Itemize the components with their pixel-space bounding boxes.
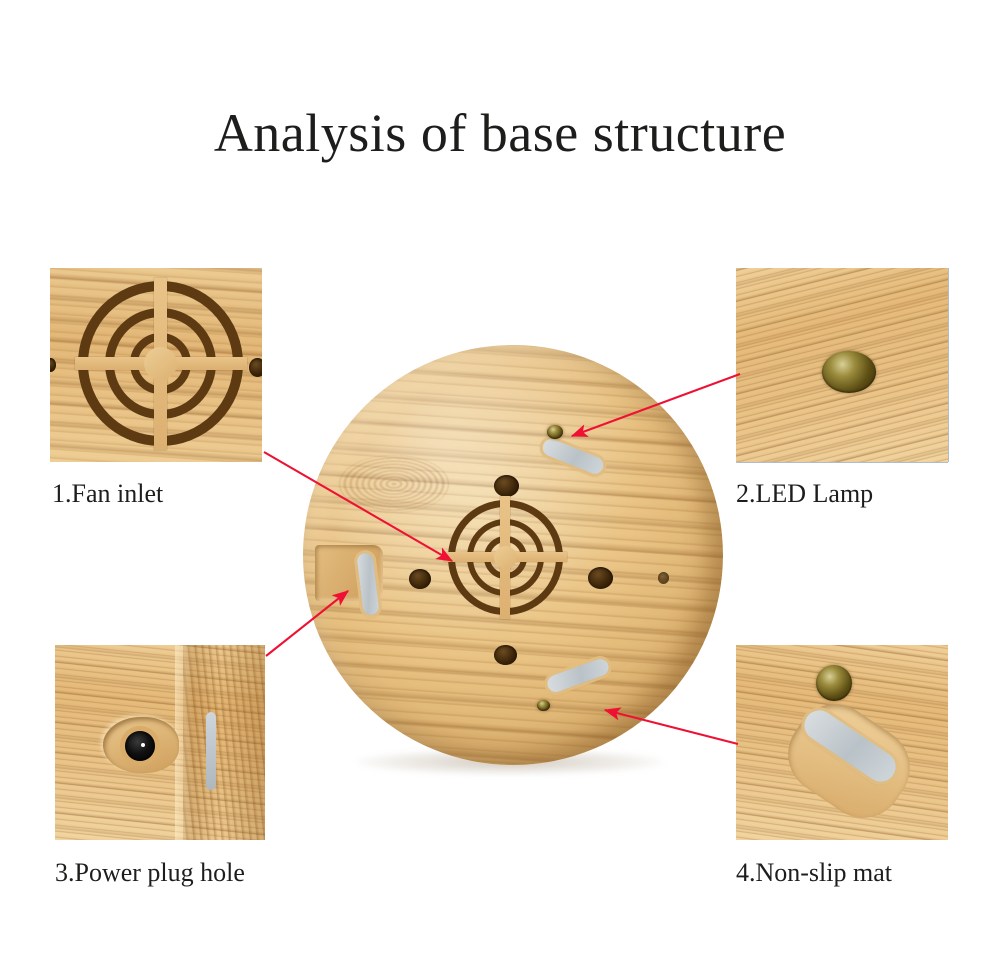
- fan-inlet-closeup: [50, 268, 262, 462]
- page-title: Analysis of base structure: [0, 101, 1000, 165]
- led-lamp-icon: [822, 351, 876, 393]
- wood-knot: [339, 455, 449, 513]
- screw-hole: [249, 358, 262, 377]
- base-edge-shading: [183, 645, 265, 840]
- diffuser-base-sphere: [303, 345, 723, 765]
- non-slip-mat-icon: [545, 657, 611, 695]
- screw-hole: [588, 567, 613, 589]
- screw-hole: [494, 645, 517, 665]
- caption-power-plug-hole: 3.Power plug hole: [55, 857, 245, 889]
- non-slip-pad: [206, 712, 216, 790]
- led-lamp-icon: [547, 425, 563, 439]
- fan-grille-icon: [448, 500, 563, 615]
- non-slip-mat-closeup: [736, 645, 948, 840]
- fan-grille-icon: [78, 281, 243, 446]
- screw-hole: [494, 475, 519, 497]
- infographic-page: Analysis of base structure 1.Fan inlet 2…: [0, 0, 1000, 959]
- product-image: [295, 345, 735, 795]
- power-plug-hole-closeup: [55, 645, 265, 840]
- non-slip-mat-icon: [540, 437, 606, 477]
- led-lamp-icon: [816, 665, 852, 701]
- led-lamp-icon: [537, 700, 550, 711]
- power-jack-icon: [125, 731, 155, 761]
- led-lamp-closeup: [736, 268, 948, 462]
- caption-non-slip-mat: 4.Non-slip mat: [736, 857, 892, 889]
- screw-hole: [409, 569, 431, 589]
- caption-fan-inlet: 1.Fan inlet: [52, 478, 163, 510]
- caption-led-lamp: 2.LED Lamp: [736, 478, 873, 510]
- screw-hole: [658, 572, 669, 584]
